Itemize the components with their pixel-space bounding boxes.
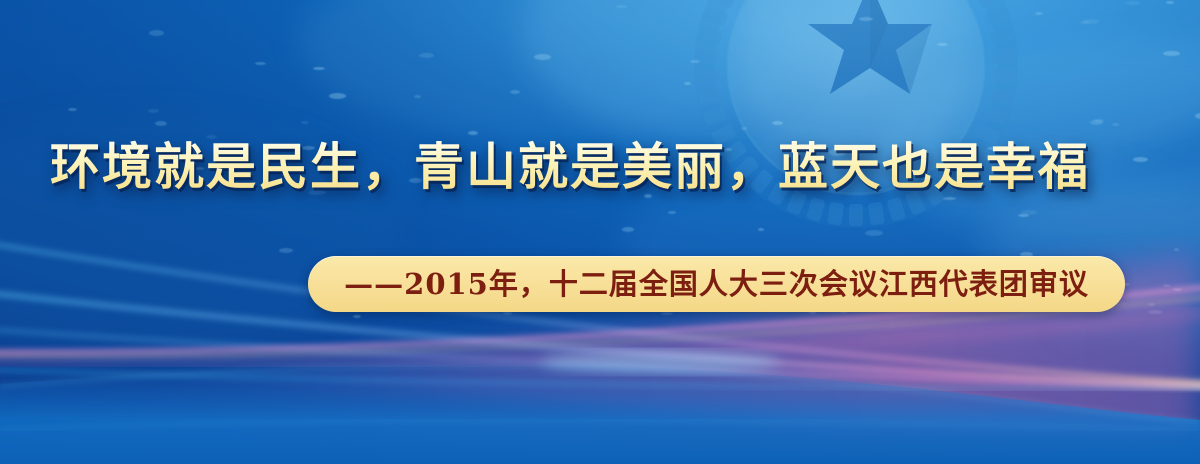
banner-image: 环境就是民生，青山就是美丽，蓝天也是幸福 ——2015年，十二届全国人大三次会议… (0, 0, 1200, 464)
headline-text: 环境就是民生，青山就是美丽，蓝天也是幸福 (50, 136, 1090, 198)
attribution-pill: ——2015年，十二届全国人大三次会议江西代表团审议 (308, 256, 1125, 312)
attribution-text: ——2015年，十二届全国人大三次会议江西代表团审议 (344, 270, 1089, 299)
national-emblem-icon (672, 0, 1040, 250)
